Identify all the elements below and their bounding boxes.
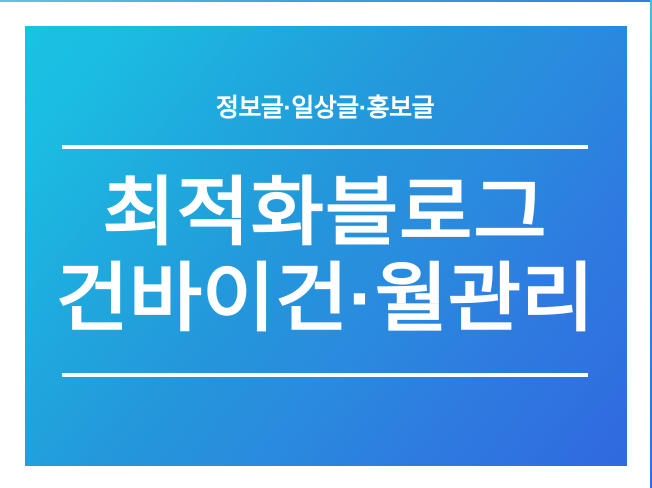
gradient-banner-card: 정보글·일상글·홍보글 최적화블로그 건바이건·월관리 [25,26,627,466]
top-hairline-divider [0,0,652,2]
banner-title-block: 최적화블로그 건바이건·월관리 [62,169,588,341]
divider-above-title [62,145,588,149]
banner-subtitle: 정보글·일상글·홍보글 [62,92,588,124]
banner-title-line-1: 최적화블로그 [46,169,604,255]
banner-content-area: 정보글·일상글·홍보글 최적화블로그 건바이건·월관리 [62,26,590,466]
banner-title-line-2: 건바이건·월관리 [46,255,604,341]
divider-below-title [62,373,588,377]
